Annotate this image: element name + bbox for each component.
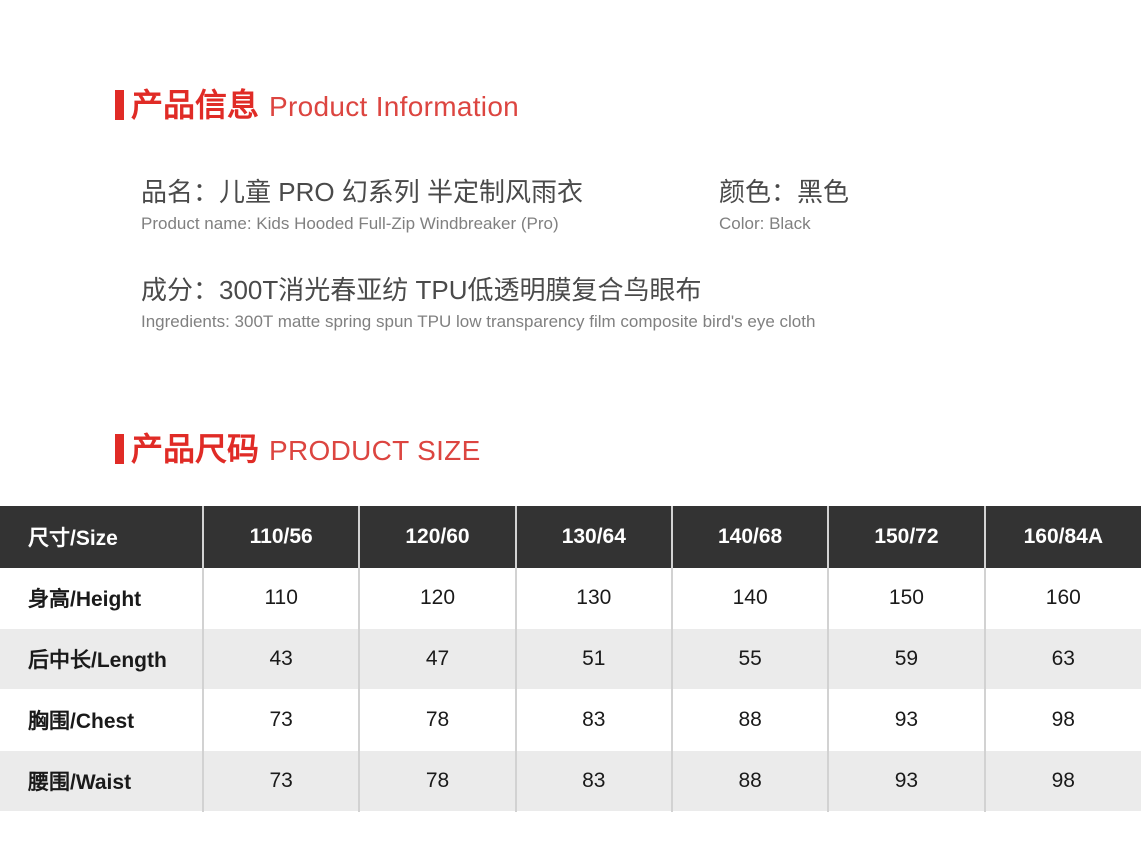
product-color-field: 颜色：黑色 Color: Black bbox=[719, 176, 849, 235]
table-cell: 78 bbox=[359, 690, 515, 751]
section-heading-product-size: 产品尺码 PRODUCT SIZE bbox=[115, 424, 481, 470]
table-cell: 120 bbox=[359, 568, 515, 629]
table-cell: 98 bbox=[985, 690, 1141, 751]
table-cell: 160 bbox=[985, 568, 1141, 629]
table-cell: 150 bbox=[828, 568, 984, 629]
section-heading-en: Product Information bbox=[269, 91, 519, 123]
table-cell: 51 bbox=[516, 629, 672, 690]
table-cell: 83 bbox=[516, 751, 672, 812]
section-heading-cn: 产品信息 bbox=[131, 80, 259, 126]
table-cell: 88 bbox=[672, 690, 828, 751]
table-cell: 55 bbox=[672, 629, 828, 690]
table-header-cell: 130/64 bbox=[516, 506, 672, 568]
table-header-cell: 160/84A bbox=[985, 506, 1141, 568]
table-row: 身高/Height 110 120 130 140 150 160 bbox=[0, 568, 1141, 629]
table-row: 后中长/Length 43 47 51 55 59 63 bbox=[0, 629, 1141, 690]
table-header-row: 尺寸/Size 110/56 120/60 130/64 140/68 150/… bbox=[0, 506, 1141, 568]
table-cell: 130 bbox=[516, 568, 672, 629]
product-color-en: Color: Black bbox=[719, 213, 849, 235]
table-cell: 78 bbox=[359, 751, 515, 812]
product-ingredients-cn: 成分：300T消光春亚纺 TPU低透明膜复合鸟眼布 bbox=[141, 274, 815, 307]
table-header-cell: 110/56 bbox=[203, 506, 359, 568]
product-color-cn: 颜色：黑色 bbox=[719, 176, 849, 209]
table-cell: 83 bbox=[516, 690, 672, 751]
section-heading-en: PRODUCT SIZE bbox=[269, 435, 481, 467]
table-cell: 63 bbox=[985, 629, 1141, 690]
table-cell: 73 bbox=[203, 751, 359, 812]
table-cell: 59 bbox=[828, 629, 984, 690]
red-accent-bar-icon bbox=[115, 90, 124, 120]
red-accent-bar-icon bbox=[115, 434, 124, 464]
table-cell: 140 bbox=[672, 568, 828, 629]
table-cell: 110 bbox=[203, 568, 359, 629]
table-cell: 98 bbox=[985, 751, 1141, 812]
table-cell: 73 bbox=[203, 690, 359, 751]
section-heading-cn: 产品尺码 bbox=[131, 424, 259, 470]
product-ingredients-field: 成分：300T消光春亚纺 TPU低透明膜复合鸟眼布 Ingredients: 3… bbox=[141, 274, 815, 333]
product-size-table: 尺寸/Size 110/56 120/60 130/64 140/68 150/… bbox=[0, 506, 1141, 812]
row-label: 身高/Height bbox=[0, 568, 203, 629]
row-label: 腰围/Waist bbox=[0, 751, 203, 812]
row-label: 胸围/Chest bbox=[0, 690, 203, 751]
table-cell: 43 bbox=[203, 629, 359, 690]
table-cell: 47 bbox=[359, 629, 515, 690]
table-cell: 93 bbox=[828, 690, 984, 751]
table-cell: 93 bbox=[828, 751, 984, 812]
table-header-cell: 120/60 bbox=[359, 506, 515, 568]
table-header-cell: 尺寸/Size bbox=[0, 506, 203, 568]
product-name-en: Product name: Kids Hooded Full-Zip Windb… bbox=[141, 213, 583, 235]
table-header-cell: 150/72 bbox=[828, 506, 984, 568]
product-name-cn: 品名：儿童 PRO 幻系列 半定制风雨衣 bbox=[141, 176, 583, 209]
product-name-field: 品名：儿童 PRO 幻系列 半定制风雨衣 Product name: Kids … bbox=[141, 176, 583, 235]
section-heading-product-information: 产品信息 Product Information bbox=[115, 80, 519, 126]
product-ingredients-en: Ingredients: 300T matte spring spun TPU … bbox=[141, 311, 815, 333]
row-label: 后中长/Length bbox=[0, 629, 203, 690]
table-cell: 88 bbox=[672, 751, 828, 812]
table-row: 胸围/Chest 73 78 83 88 93 98 bbox=[0, 690, 1141, 751]
table-header-cell: 140/68 bbox=[672, 506, 828, 568]
table-row: 腰围/Waist 73 78 83 88 93 98 bbox=[0, 751, 1141, 812]
